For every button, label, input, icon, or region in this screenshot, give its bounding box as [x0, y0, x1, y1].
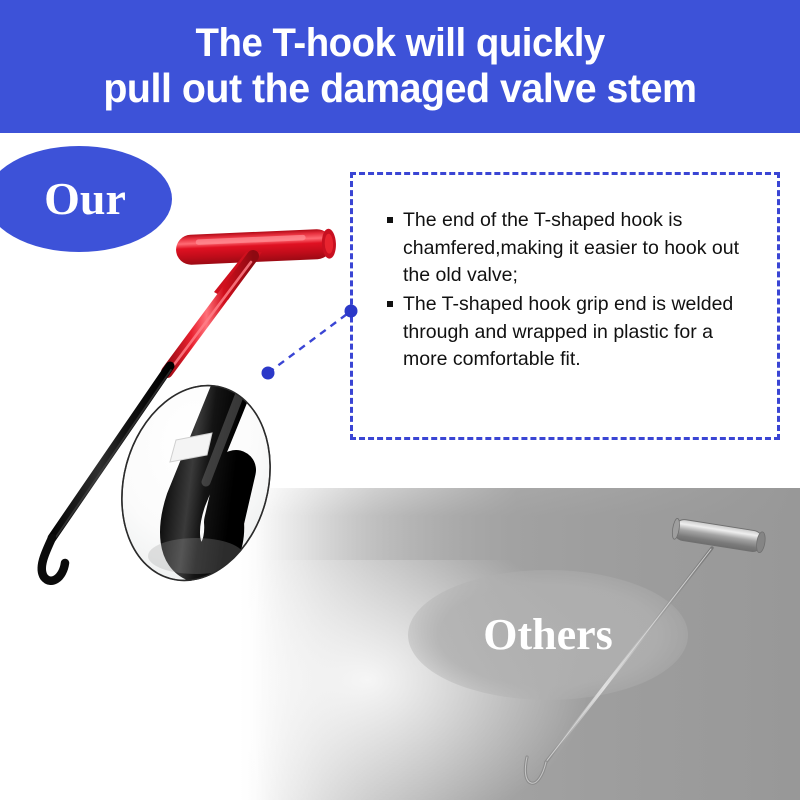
feature-bullet-item: The T-shaped hook grip end is welded thr…	[386, 291, 754, 374]
feature-bullet-list: The end of the T-shaped hook is chamfere…	[386, 207, 754, 375]
our-shaft-upper	[167, 256, 253, 372]
our-hook-tip	[42, 538, 65, 581]
feature-bullet-item: The end of the T-shaped hook is chamfere…	[386, 207, 754, 290]
product-infographic: The T-hook will quickly pull out the dam…	[0, 0, 800, 800]
hook-tip-magnifier	[101, 369, 291, 598]
feature-callout-box: The end of the T-shaped hook is chamfere…	[350, 172, 780, 440]
